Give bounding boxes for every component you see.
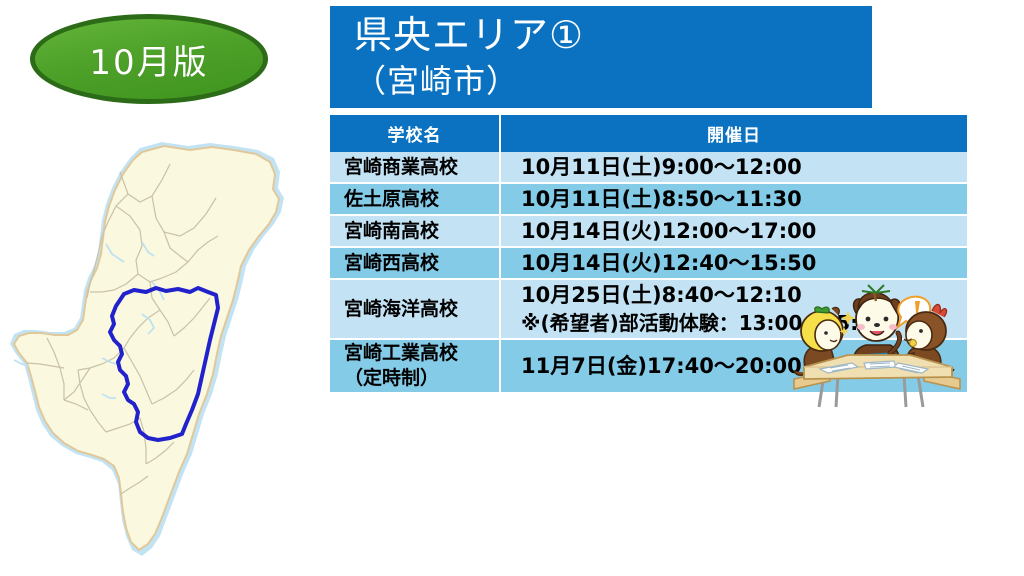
table-row: 佐土原高校 10月11日(土)8:50〜11:30 bbox=[330, 183, 967, 215]
event-date-text: 10月14日(火)12:00〜17:00 bbox=[521, 219, 816, 243]
event-date-text: 10月11日(土)8:50〜11:30 bbox=[521, 187, 802, 211]
cell-school-name: 宮崎海洋高校 bbox=[330, 279, 500, 339]
cell-school-name: 佐土原高校 bbox=[330, 183, 500, 215]
table-row: 宮崎海洋高校 10月25日(土)8:40〜12:10 ※(希望者)部活動体験：1… bbox=[330, 279, 967, 339]
miyazaki-prefecture-map bbox=[2, 132, 318, 572]
cell-school-name: 宮崎西高校 bbox=[330, 247, 500, 279]
page-title: 県央エリア① bbox=[354, 10, 872, 60]
table-body: 宮崎商業高校 10月11日(土)9:00〜12:00 佐土原高校 10月11日(… bbox=[330, 152, 967, 392]
cell-school-name: 宮崎商業高校 bbox=[330, 152, 500, 183]
event-date-text: 10月11日(土)9:00〜12:00 bbox=[521, 155, 802, 179]
event-date-text: 10月25日(土)8:40〜12:10 bbox=[521, 283, 802, 307]
column-header-date: 開催日 bbox=[500, 115, 967, 152]
cell-event-date: 10月14日(火)12:00〜17:00 bbox=[500, 215, 967, 247]
cell-school-name: 宮崎南高校 bbox=[330, 215, 500, 247]
cell-event-date: 10月25日(土)8:40〜12:10 ※(希望者)部活動体験：13:00〜15… bbox=[500, 279, 967, 339]
event-date-text: 10月14日(火)12:40〜15:50 bbox=[521, 251, 816, 275]
cell-event-date: 10月14日(火)12:40〜15:50 bbox=[500, 247, 967, 279]
cell-event-date: 10月11日(土)9:00〜12:00 bbox=[500, 152, 967, 183]
badge-label: 10月版 bbox=[30, 14, 268, 104]
month-badge: 10月版 bbox=[30, 14, 268, 104]
cell-event-date: 11月7日(金)17:40〜20:00 bbox=[500, 339, 967, 392]
column-header-school: 学校名 bbox=[330, 115, 500, 152]
table-row: 宮崎南高校 10月14日(火)12:00〜17:00 bbox=[330, 215, 967, 247]
area-title-banner: 県央エリア① （宮崎市） bbox=[330, 6, 872, 108]
table-header-row: 学校名 開催日 bbox=[330, 115, 967, 152]
table-row: 宮崎商業高校 10月11日(土)9:00〜12:00 bbox=[330, 152, 967, 183]
event-date-text: 11月7日(金)17:40〜20:00 bbox=[521, 354, 802, 378]
schedule-table: 学校名 開催日 宮崎商業高校 10月11日(土)9:00〜12:00 佐土原高校… bbox=[330, 115, 967, 392]
table-row: 宮崎西高校 10月14日(火)12:40〜15:50 bbox=[330, 247, 967, 279]
event-date-note: ※(希望者)部活動体験：13:00〜15:00 bbox=[521, 309, 966, 337]
cell-school-name: 宮崎工業高校（定時制） bbox=[330, 339, 500, 392]
cell-event-date: 10月11日(土)8:50〜11:30 bbox=[500, 183, 967, 215]
slide-root: 10月版 bbox=[0, 0, 1024, 576]
page-subtitle: （宮崎市） bbox=[354, 60, 872, 102]
table-row: 宮崎工業高校（定時制） 11月7日(金)17:40〜20:00 bbox=[330, 339, 967, 392]
